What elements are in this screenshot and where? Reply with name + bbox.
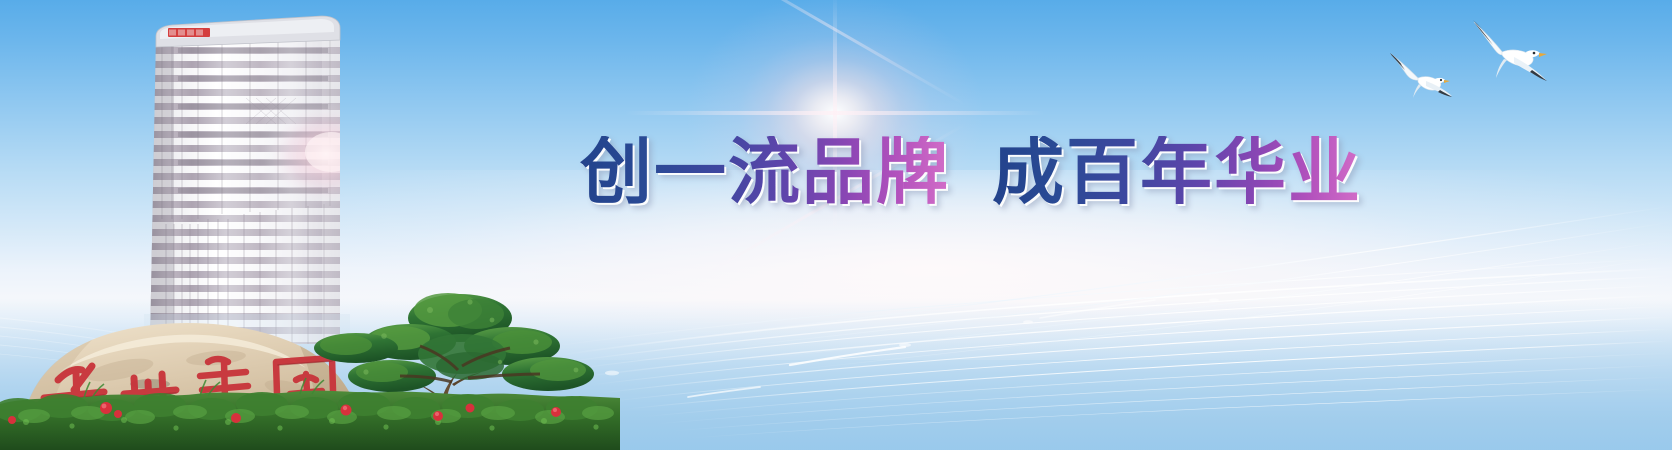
slogan-part-one: 创一流品牌: [580, 136, 950, 208]
hero-banner: 创一流品牌 成百年华业: [0, 0, 1672, 450]
sky-background: [0, 0, 1672, 450]
slogan-headline: 创一流品牌 成百年华业: [580, 126, 1362, 218]
slogan-part-two: 成百年华业: [992, 136, 1362, 208]
